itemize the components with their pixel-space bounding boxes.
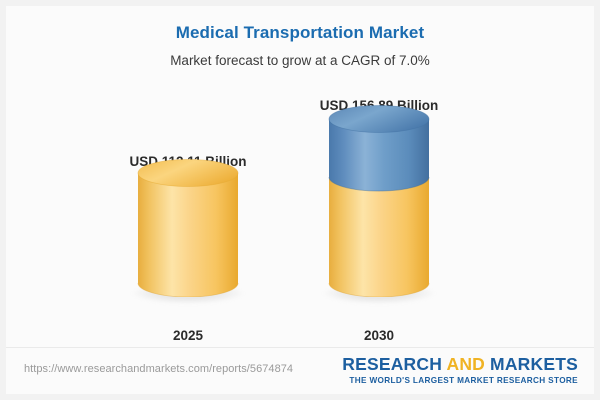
report-url-link[interactable]: https://www.researchandmarkets.com/repor… [24,362,293,376]
logo-word-markets: MARKETS [485,354,578,374]
chart-header: Medical Transportation Market Market for… [6,22,594,70]
logo-word-and: AND [446,354,485,374]
cylinder-2025-svg [136,159,240,297]
bar-group-2030: USD 156.89 Billion [289,86,469,348]
chart-subtitle: Market forecast to grow at a CAGR of 7.0… [6,44,594,70]
chart-panel: Medical Transportation Market Market for… [6,6,594,394]
bar-group-2025: USD 112.11 Billion [98,86,278,348]
page-title: Medical Transportation Market [6,22,594,44]
footer-bar: https://www.researchandmarkets.com/repor… [6,347,594,394]
logo-wordmark: RESEARCH AND MARKETS [342,354,578,374]
chart-plot-area: USD 112.11 Billion [6,86,594,348]
bar-category-label-2030: 2030 [289,328,469,344]
brand-logo[interactable]: RESEARCH AND MARKETS THE WORLD'S LARGEST… [342,354,578,386]
cylinder-2030-svg [327,105,431,297]
logo-tagline: THE WORLD'S LARGEST MARKET RESEARCH STOR… [342,374,578,386]
bar-cylinder-2030[interactable] [327,105,431,302]
bar-cylinder-2025[interactable] [136,159,240,302]
logo-word-research: RESEARCH [342,354,446,374]
bar-category-label-2025: 2025 [98,328,278,344]
infographic-root: Medical Transportation Market Market for… [0,0,600,400]
